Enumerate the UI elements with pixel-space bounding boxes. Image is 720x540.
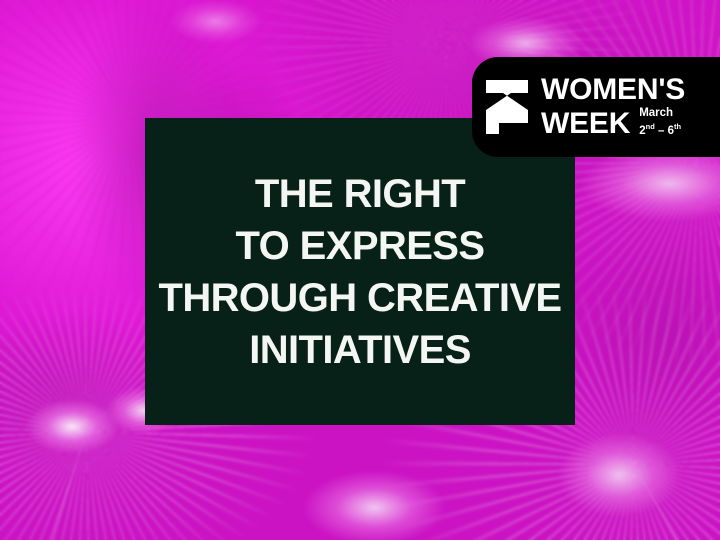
- poster-canvas: THE RIGHT TO EXPRESS THROUGH CREATIVE IN…: [0, 0, 720, 540]
- stylized-f-logo-icon: [486, 80, 528, 134]
- event-badge: WOMEN'S WEEK March 2nd – 6th: [472, 57, 720, 157]
- badge-row-top: WOMEN'S: [541, 73, 685, 107]
- badge-title-line-2: WEEK: [541, 107, 630, 141]
- badge-date-days: 2nd – 6th: [639, 125, 681, 137]
- headline-line-1: THE RIGHT: [255, 168, 465, 220]
- badge-text-block: WOMEN'S WEEK March 2nd – 6th: [541, 73, 685, 141]
- headline-line-4: INITIATIVES: [249, 324, 471, 376]
- badge-row-bottom: WEEK March 2nd – 6th: [541, 107, 685, 141]
- headline-line-2: TO EXPRESS: [236, 220, 485, 272]
- badge-date-month: March: [639, 107, 673, 119]
- badge-date-day-end-suffix: th: [674, 122, 681, 131]
- badge-title-line-1: WOMEN'S: [541, 73, 685, 107]
- headline-panel: THE RIGHT TO EXPRESS THROUGH CREATIVE IN…: [145, 118, 575, 425]
- badge-date-separator: –: [658, 125, 664, 137]
- badge-date-day-start-suffix: nd: [646, 122, 655, 131]
- headline-line-3: THROUGH CREATIVE: [159, 272, 562, 324]
- badge-date-range: March 2nd – 6th: [639, 107, 681, 141]
